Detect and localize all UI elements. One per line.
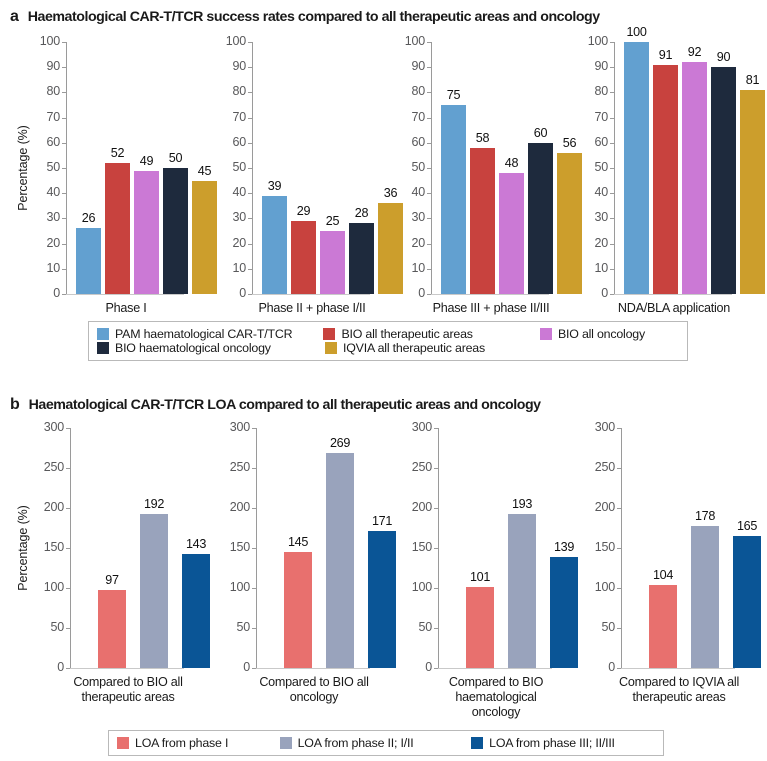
- legend-label: LOA from phase II; I/II: [298, 736, 414, 750]
- y-axis-tick: [610, 218, 614, 219]
- y-axis-tick-label: 50: [568, 160, 608, 174]
- y-axis-line: [614, 42, 615, 294]
- bar-value-label: 100: [616, 25, 657, 39]
- x-axis-category-line: Compared to IQVIA all: [613, 675, 745, 690]
- bar: [624, 42, 649, 294]
- bar-value-label: 104: [641, 568, 685, 582]
- panel-b-letter: b: [10, 396, 20, 414]
- y-axis-tick: [427, 218, 431, 219]
- y-axis-tick-label: 10: [20, 261, 60, 275]
- bar: [163, 168, 188, 294]
- y-axis-tick: [434, 428, 438, 429]
- legend-swatch-icon: [325, 342, 337, 354]
- y-axis-tick-label: 70: [206, 110, 246, 124]
- y-axis-tick-label: 200: [392, 500, 432, 514]
- y-axis-tick: [62, 218, 66, 219]
- y-axis-tick-label: 300: [24, 420, 64, 434]
- y-axis-tick: [252, 468, 256, 469]
- legend-item[interactable]: IQVIA all therapeutic areas: [325, 341, 543, 355]
- y-axis-tick: [248, 92, 252, 93]
- y-axis-line: [252, 42, 253, 294]
- y-axis-tick-label: 90: [385, 59, 425, 73]
- y-axis-tick-label: 200: [24, 500, 64, 514]
- y-axis-tick-label: 40: [385, 185, 425, 199]
- y-axis-tick-label: 70: [568, 110, 608, 124]
- bar: [499, 173, 524, 294]
- bar-value-label: 39: [254, 179, 295, 193]
- y-axis-tick: [610, 92, 614, 93]
- y-axis-tick: [66, 428, 70, 429]
- x-axis-category-label: NDA/BLA application: [606, 301, 742, 316]
- legend-item[interactable]: LOA from phase I: [117, 736, 280, 750]
- y-axis-tick: [248, 67, 252, 68]
- y-axis-tick: [248, 42, 252, 43]
- chart-panel-a: Percentage (%)10090807060504030201002652…: [0, 34, 767, 309]
- y-axis-tick: [252, 508, 256, 509]
- x-axis-category-line: NDA/BLA application: [606, 301, 742, 316]
- y-axis-tick-label: 50: [24, 620, 64, 634]
- x-axis-category-line: Phase III + phase II/III: [423, 301, 559, 316]
- bar-value-label: 48: [491, 156, 532, 170]
- y-axis-tick: [427, 118, 431, 119]
- y-axis-tick: [66, 508, 70, 509]
- y-axis-tick-label: 90: [206, 59, 246, 73]
- y-axis-tick-label: 150: [392, 540, 432, 554]
- x-axis-category-line: haematological oncology: [430, 690, 562, 720]
- legend-swatch-icon: [280, 737, 292, 749]
- bar-value-label: 192: [132, 497, 176, 511]
- subplot-a4: 100908070605040302010010091929081NDA/BLA…: [548, 34, 734, 340]
- bar-value-label: 101: [458, 570, 502, 584]
- y-axis-tick-label: 50: [575, 620, 615, 634]
- y-axis-tick: [434, 588, 438, 589]
- legend-swatch-icon: [540, 328, 552, 340]
- bar-value-label: 58: [462, 131, 503, 145]
- x-axis-category-label: Compared to IQVIA alltherapeutic areas: [613, 675, 745, 705]
- y-axis-tick: [62, 42, 66, 43]
- chart-panel-b: Percentage (%)30025020015010050097192143…: [0, 420, 767, 710]
- y-axis-tick-label: 100: [392, 580, 432, 594]
- bar: [284, 552, 312, 668]
- y-axis-tick: [427, 42, 431, 43]
- y-axis-tick-label: 50: [206, 160, 246, 174]
- y-axis-tick-label: 20: [206, 236, 246, 250]
- y-axis-tick: [62, 168, 66, 169]
- x-axis-category-label: Compared to BIO alltherapeutic areas: [62, 675, 194, 705]
- y-axis-tick-label: 60: [385, 135, 425, 149]
- panel-b-title: b Haematological CAR-T/TCR LOA compared …: [10, 396, 541, 414]
- y-axis-tick-label: 60: [20, 135, 60, 149]
- y-axis-tick: [252, 588, 256, 589]
- y-axis-tick: [66, 628, 70, 629]
- subplot-b3: 300250200150100500101193139Compared to B…: [368, 420, 554, 714]
- legend-item[interactable]: LOA from phase III; II/III: [471, 736, 655, 750]
- legend-swatch-icon: [97, 342, 109, 354]
- y-axis-tick-label: 20: [568, 236, 608, 250]
- y-axis-tick: [248, 244, 252, 245]
- y-axis-tick: [427, 168, 431, 169]
- y-axis-line: [256, 428, 257, 668]
- y-axis-tick-label: 250: [24, 460, 64, 474]
- bar: [740, 90, 765, 294]
- bar: [733, 536, 761, 668]
- y-axis-tick: [62, 118, 66, 119]
- legend-label: BIO haematological oncology: [115, 341, 271, 355]
- subplot-b1: 30025020015010050097192143Compared to BI…: [0, 420, 186, 714]
- bar-value-label: 145: [276, 535, 320, 549]
- x-axis-baseline: [438, 668, 552, 669]
- x-axis-baseline: [252, 294, 370, 295]
- legend-item[interactable]: LOA from phase II; I/II: [280, 736, 472, 750]
- legend-panel-b: LOA from phase ILOA from phase II; I/IIL…: [108, 730, 664, 756]
- y-axis-tick-label: 50: [392, 620, 432, 634]
- y-axis-tick: [617, 468, 621, 469]
- bar: [134, 171, 159, 294]
- y-axis-tick-label: 50: [210, 620, 250, 634]
- y-axis-tick: [610, 168, 614, 169]
- y-axis-tick: [248, 143, 252, 144]
- y-axis-line: [621, 428, 622, 668]
- y-axis-tick-label: 30: [568, 210, 608, 224]
- y-axis-tick-label: 10: [568, 261, 608, 275]
- legend-item[interactable]: BIO all oncology: [540, 327, 679, 341]
- y-axis-tick: [252, 428, 256, 429]
- y-axis-tick-label: 50: [385, 160, 425, 174]
- y-axis-tick-label: 100: [20, 34, 60, 48]
- y-axis-tick: [617, 548, 621, 549]
- legend-label: BIO all oncology: [558, 327, 645, 341]
- y-axis-tick-label: 30: [385, 210, 425, 224]
- y-axis-tick-label: 80: [206, 84, 246, 98]
- x-axis-category-line: Phase I: [58, 301, 194, 316]
- bar: [140, 514, 168, 668]
- bar: [76, 228, 101, 294]
- x-axis-category-line: therapeutic areas: [62, 690, 194, 705]
- y-axis-tick: [427, 269, 431, 270]
- panel-a-letter: a: [10, 8, 19, 26]
- x-axis-category-label: Compared to BIOhaematological oncology: [430, 675, 562, 720]
- y-axis-tick: [62, 67, 66, 68]
- legend-label: IQVIA all therapeutic areas: [343, 341, 485, 355]
- x-axis-category-label: Phase II + phase I/II: [244, 301, 380, 316]
- y-axis-tick: [434, 508, 438, 509]
- y-axis-tick: [434, 628, 438, 629]
- x-axis-category-line: Phase II + phase I/II: [244, 301, 380, 316]
- x-axis-category-label: Phase I: [58, 301, 194, 316]
- x-axis-baseline: [66, 294, 184, 295]
- y-axis-tick: [427, 92, 431, 93]
- x-axis-baseline: [621, 668, 735, 669]
- y-axis-tick: [62, 244, 66, 245]
- y-axis-tick: [610, 193, 614, 194]
- y-axis-tick-label: 40: [20, 185, 60, 199]
- y-axis-tick-label: 0: [568, 286, 608, 300]
- legend-swatch-icon: [471, 737, 483, 749]
- y-axis-tick-label: 90: [568, 59, 608, 73]
- y-axis-tick: [427, 67, 431, 68]
- y-axis-tick-label: 300: [392, 420, 432, 434]
- x-axis-category-label: Compared to BIO alloncology: [248, 675, 380, 705]
- subplot-a1: 10090807060504030201002652495045Phase I: [0, 34, 186, 340]
- y-axis-tick-label: 90: [20, 59, 60, 73]
- y-axis-tick-label: 300: [210, 420, 250, 434]
- y-axis-tick-label: 40: [206, 185, 246, 199]
- y-axis-tick-label: 0: [392, 660, 432, 674]
- bar: [105, 163, 130, 294]
- y-axis-tick: [66, 588, 70, 589]
- y-axis-tick: [62, 143, 66, 144]
- y-axis-tick-label: 150: [210, 540, 250, 554]
- y-axis-tick: [66, 468, 70, 469]
- y-axis-tick-label: 200: [575, 500, 615, 514]
- y-axis-tick: [62, 269, 66, 270]
- panel-a-heading: Haematological CAR-T/TCR success rates c…: [28, 9, 600, 25]
- y-axis-tick: [434, 468, 438, 469]
- y-axis-tick: [248, 218, 252, 219]
- y-axis-tick-label: 50: [20, 160, 60, 174]
- y-axis-line: [438, 428, 439, 668]
- y-axis-tick-label: 30: [20, 210, 60, 224]
- y-axis-tick: [617, 508, 621, 509]
- y-axis-tick-label: 10: [385, 261, 425, 275]
- legend-item[interactable]: BIO haematological oncology: [97, 341, 325, 355]
- y-axis-tick: [610, 118, 614, 119]
- panel-b-heading: Haematological CAR-T/TCR LOA compared to…: [29, 397, 541, 413]
- bar-value-label: 90: [703, 50, 744, 64]
- y-axis-tick-label: 0: [575, 660, 615, 674]
- y-axis-tick-label: 80: [568, 84, 608, 98]
- bar: [508, 514, 536, 668]
- y-axis-tick-label: 300: [575, 420, 615, 434]
- bar: [711, 67, 736, 294]
- bar-value-label: 269: [318, 436, 362, 450]
- legend-swatch-icon: [97, 328, 109, 340]
- y-axis-tick-label: 80: [385, 84, 425, 98]
- legend-row: PAM haematological CAR-T/TCRBIO all ther…: [97, 327, 679, 341]
- legend-row: BIO haematological oncologyIQVIA all the…: [97, 341, 679, 355]
- bar: [291, 221, 316, 294]
- y-axis-tick-label: 100: [568, 34, 608, 48]
- y-axis-tick: [248, 193, 252, 194]
- y-axis-tick-label: 40: [568, 185, 608, 199]
- x-axis-baseline: [256, 668, 370, 669]
- bar: [320, 231, 345, 294]
- y-axis-tick-label: 250: [392, 460, 432, 474]
- y-axis-tick-label: 150: [575, 540, 615, 554]
- y-axis-tick-label: 250: [575, 460, 615, 474]
- y-axis-tick-label: 150: [24, 540, 64, 554]
- y-axis-tick-label: 0: [206, 286, 246, 300]
- legend-label: LOA from phase III; II/III: [489, 736, 615, 750]
- y-axis-tick: [66, 548, 70, 549]
- legend-label: BIO all therapeutic areas: [341, 327, 472, 341]
- x-axis-category-label: Phase III + phase II/III: [423, 301, 559, 316]
- y-axis-tick: [610, 42, 614, 43]
- y-axis-tick-label: 10: [206, 261, 246, 275]
- y-axis-tick-label: 100: [210, 580, 250, 594]
- y-axis-tick-label: 60: [568, 135, 608, 149]
- legend-row: LOA from phase ILOA from phase II; I/IIL…: [117, 736, 655, 750]
- y-axis-line: [70, 428, 71, 668]
- y-axis-tick-label: 20: [385, 236, 425, 250]
- y-axis-tick-label: 100: [206, 34, 246, 48]
- y-axis-tick-label: 70: [385, 110, 425, 124]
- x-axis-category-line: therapeutic areas: [613, 690, 745, 705]
- x-axis-category-line: Compared to BIO all: [62, 675, 194, 690]
- legend-item[interactable]: BIO all therapeutic areas: [323, 327, 540, 341]
- y-axis-tick: [427, 193, 431, 194]
- bar: [682, 62, 707, 294]
- y-axis-tick-label: 80: [20, 84, 60, 98]
- legend-swatch-icon: [117, 737, 129, 749]
- legend-item[interactable]: PAM haematological CAR-T/TCR: [97, 327, 323, 341]
- bar: [326, 453, 354, 668]
- y-axis-tick-label: 0: [20, 286, 60, 300]
- y-axis-tick: [248, 168, 252, 169]
- y-axis-tick-label: 0: [385, 286, 425, 300]
- y-axis-tick: [62, 193, 66, 194]
- y-axis-tick-label: 200: [210, 500, 250, 514]
- figure-root: a Haematological CAR-T/TCR success rates…: [0, 0, 767, 761]
- y-axis-tick: [617, 628, 621, 629]
- y-axis-line: [66, 42, 67, 294]
- y-axis-tick-label: 100: [24, 580, 64, 594]
- x-axis-category-line: Compared to BIO: [430, 675, 562, 690]
- legend-label: PAM haematological CAR-T/TCR: [115, 327, 292, 341]
- bar-value-label: 193: [500, 497, 544, 511]
- y-axis-tick: [617, 428, 621, 429]
- subplot-b2: 300250200150100500145269171Compared to B…: [186, 420, 372, 714]
- bar-value-label: 75: [433, 88, 474, 102]
- y-axis-tick: [610, 143, 614, 144]
- y-axis-tick: [610, 67, 614, 68]
- y-axis-tick: [610, 244, 614, 245]
- x-axis-baseline: [431, 294, 549, 295]
- legend-swatch-icon: [323, 328, 335, 340]
- y-axis-tick: [427, 143, 431, 144]
- x-axis-category-line: Compared to BIO all: [248, 675, 380, 690]
- bar: [653, 65, 678, 294]
- bar-value-label: 81: [732, 73, 767, 87]
- y-axis-tick: [252, 628, 256, 629]
- y-axis-tick: [617, 588, 621, 589]
- subplot-a2: 10090807060504030201003929252836Phase II…: [186, 34, 372, 340]
- y-axis-tick: [610, 269, 614, 270]
- y-axis-tick-label: 0: [210, 660, 250, 674]
- y-axis-tick-label: 0: [24, 660, 64, 674]
- y-axis-tick: [252, 548, 256, 549]
- y-axis-tick-label: 30: [206, 210, 246, 224]
- y-axis-tick: [434, 548, 438, 549]
- bar: [466, 587, 494, 668]
- y-axis-tick: [427, 244, 431, 245]
- y-axis-tick-label: 20: [20, 236, 60, 250]
- y-axis-tick: [248, 269, 252, 270]
- x-axis-category-line: oncology: [248, 690, 380, 705]
- y-axis-tick: [62, 92, 66, 93]
- y-axis-tick-label: 70: [20, 110, 60, 124]
- legend-label: LOA from phase I: [135, 736, 228, 750]
- x-axis-baseline: [614, 294, 732, 295]
- legend-panel-a: PAM haematological CAR-T/TCRBIO all ther…: [88, 321, 688, 361]
- subplot-a3: 10090807060504030201007558486056Phase II…: [365, 34, 551, 340]
- y-axis-line: [431, 42, 432, 294]
- y-axis-tick-label: 250: [210, 460, 250, 474]
- y-axis-tick-label: 60: [206, 135, 246, 149]
- bar-value-label: 26: [68, 211, 109, 225]
- y-axis-tick-label: 100: [385, 34, 425, 48]
- bar-value-label: 97: [90, 573, 134, 587]
- bar-value-label: 178: [683, 509, 727, 523]
- y-axis-tick: [248, 118, 252, 119]
- bar: [98, 590, 126, 668]
- bar: [691, 526, 719, 668]
- bar-value-label: 165: [725, 519, 767, 533]
- bar: [649, 585, 677, 668]
- y-axis-tick-label: 100: [575, 580, 615, 594]
- panel-a-title: a Haematological CAR-T/TCR success rates…: [10, 8, 600, 26]
- subplot-b4: 300250200150100500104178165Compared to I…: [551, 420, 737, 714]
- x-axis-baseline: [70, 668, 184, 669]
